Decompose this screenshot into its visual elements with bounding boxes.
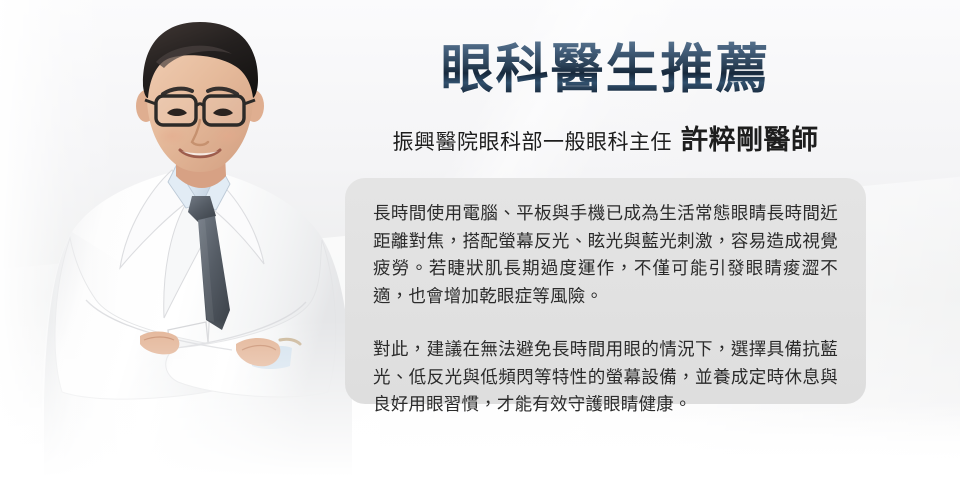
content-column: 眼科醫生推薦 振興醫院眼科部一般眼科主任許粹剛醫師 長時間使用電腦、平板與手機已… — [345, 0, 960, 477]
doctor-recommendation-banner: 眼科醫生推薦 振興醫院眼科部一般眼科主任許粹剛醫師 長時間使用電腦、平板與手機已… — [0, 0, 960, 477]
quote-paragraph: 長時間使用電腦、平板與手機已成為生活常態眼睛長時間近距離對焦，搭配螢幕反光、眩光… — [373, 200, 838, 310]
quote-paragraph: 對此，建議在無法避免長時間用眼的情況下，選擇具備抗藍光、低反光與低頻閃等特性的螢… — [373, 336, 838, 419]
eyeglasses — [145, 96, 255, 125]
shirt-and-tie — [168, 162, 230, 330]
crossed-arms — [55, 238, 336, 399]
doctor-credential: 振興醫院眼科部一般眼科主任許粹剛醫師 — [345, 118, 866, 157]
doctor-head — [136, 22, 264, 172]
doctor-name: 許粹剛醫師 — [681, 125, 819, 155]
white-coat — [42, 168, 352, 477]
doctor-portrait — [0, 0, 380, 477]
page-title: 眼科醫生推薦 — [345, 38, 866, 102]
doctor-quote-card: 長時間使用電腦、平板與手機已成為生活常態眼睛長時間近距離對焦，搭配螢幕反光、眩光… — [345, 178, 866, 404]
doctor-role: 振興醫院眼科部一般眼科主任 — [393, 131, 673, 154]
